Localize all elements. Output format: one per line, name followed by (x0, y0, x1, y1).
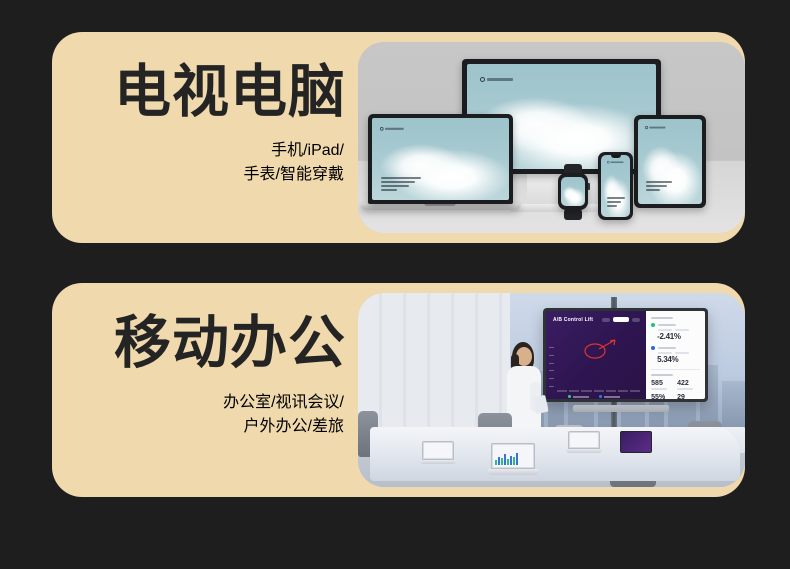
dashboard-chart-pane: A/B Control Lift (546, 311, 646, 399)
brand-logo-icon (480, 77, 513, 82)
laptop-screen (424, 443, 452, 458)
office-scene: A/B Control Lift (358, 293, 745, 487)
handheld-tablet (532, 395, 548, 414)
panel-subline-line-2: 手表/智能穿戴 (244, 160, 344, 184)
laptop-keyboard (420, 460, 456, 464)
panel-subline-line-1: 办公室/视讯会议/ (223, 388, 344, 412)
stat-value: 585 (651, 380, 674, 387)
metric-sub-variant (658, 329, 700, 331)
laptop-device (368, 114, 513, 204)
phone-screen (601, 155, 630, 217)
laptop-on-table-center (488, 443, 538, 477)
metric-row-control (651, 346, 700, 350)
screen-caption (646, 181, 672, 191)
stats-heading (651, 374, 673, 376)
legend-item-variant (568, 395, 589, 398)
metric-value-variant: -2.41% (657, 332, 700, 341)
tablet-device (634, 115, 706, 208)
laptop-keyboard (566, 449, 602, 453)
dashboard-metrics-pane: -2.41% 5.34% 585 422 55% 29 (646, 311, 705, 399)
watch-band-bottom (564, 209, 582, 220)
metric-sub-control (658, 352, 700, 354)
laptop-screen (570, 433, 598, 447)
laptop-lid (422, 441, 454, 460)
panel-subline-line-1: 手机/iPad/ (271, 136, 344, 160)
brand-logo-icon (380, 127, 404, 131)
laptop-screen (493, 445, 533, 467)
stat-cell: 585 (651, 380, 674, 390)
stat-value: 422 (677, 380, 700, 387)
stat-cell: 29 (677, 394, 700, 399)
promo-page: 电视电脑 手机/iPad/ 手表/智能穿戴 (0, 0, 790, 569)
metric-row-variant (651, 323, 700, 327)
legend-item-control (599, 395, 620, 398)
chart-legend (568, 395, 620, 398)
laptop-lid (491, 443, 535, 469)
laptop-screen (372, 118, 509, 200)
screen-caption (607, 197, 625, 207)
stat-cell: 422 (677, 380, 700, 390)
laptop-on-table-rear (566, 431, 602, 455)
laptop-lid (568, 431, 600, 449)
smartwatch-device (558, 173, 588, 210)
device-family-photo (358, 42, 745, 233)
stats-grid: 585 422 55% 29 (651, 380, 700, 399)
trend-annotation-icon (581, 337, 623, 361)
brand-logo-icon (607, 161, 624, 164)
metric-value-control: 5.34% (657, 355, 700, 364)
watch-screen (561, 177, 585, 206)
panel-headline: 移动办公 (114, 314, 346, 372)
metrics-heading (651, 317, 673, 319)
phone-notch (611, 155, 621, 158)
dashboard-controls[interactable] (602, 317, 640, 322)
tablet-on-table (620, 431, 652, 453)
brand-logo-icon (645, 126, 665, 129)
tablet-screen (638, 119, 702, 204)
panel-headline: 电视电脑 (114, 63, 346, 121)
laptop-keyboard (488, 469, 538, 475)
screen-caption (381, 177, 421, 191)
panel-text-block: 电视电脑 手机/iPad/ 手表/智能穿戴 (52, 32, 358, 243)
dashboard: A/B Control Lift (546, 311, 705, 399)
feature-panel-tv-computer: 电视电脑 手机/iPad/ 手表/智能穿戴 (52, 32, 745, 243)
chart-x-axis (557, 390, 640, 392)
wall-display: A/B Control Lift (543, 308, 708, 402)
laptop-on-table-left (420, 441, 456, 465)
meeting-room-photo: A/B Control Lift (358, 293, 745, 487)
feature-panel-mobile-office: 移动办公 办公室/视讯会议/ 户外办公/差旅 (52, 283, 745, 497)
panel-text-block: 移动办公 办公室/视讯会议/ 户外办公/差旅 (52, 283, 358, 497)
stat-cell: 55% (651, 394, 674, 399)
display-shelf (573, 405, 669, 412)
stat-value: 55% (651, 394, 674, 399)
laptop-chart (495, 452, 518, 465)
stat-value: 29 (677, 394, 700, 399)
devices-scene (358, 42, 745, 233)
panel-subline-line-2: 户外办公/差旅 (244, 412, 344, 436)
phone-device (598, 152, 633, 220)
divider (651, 369, 700, 370)
